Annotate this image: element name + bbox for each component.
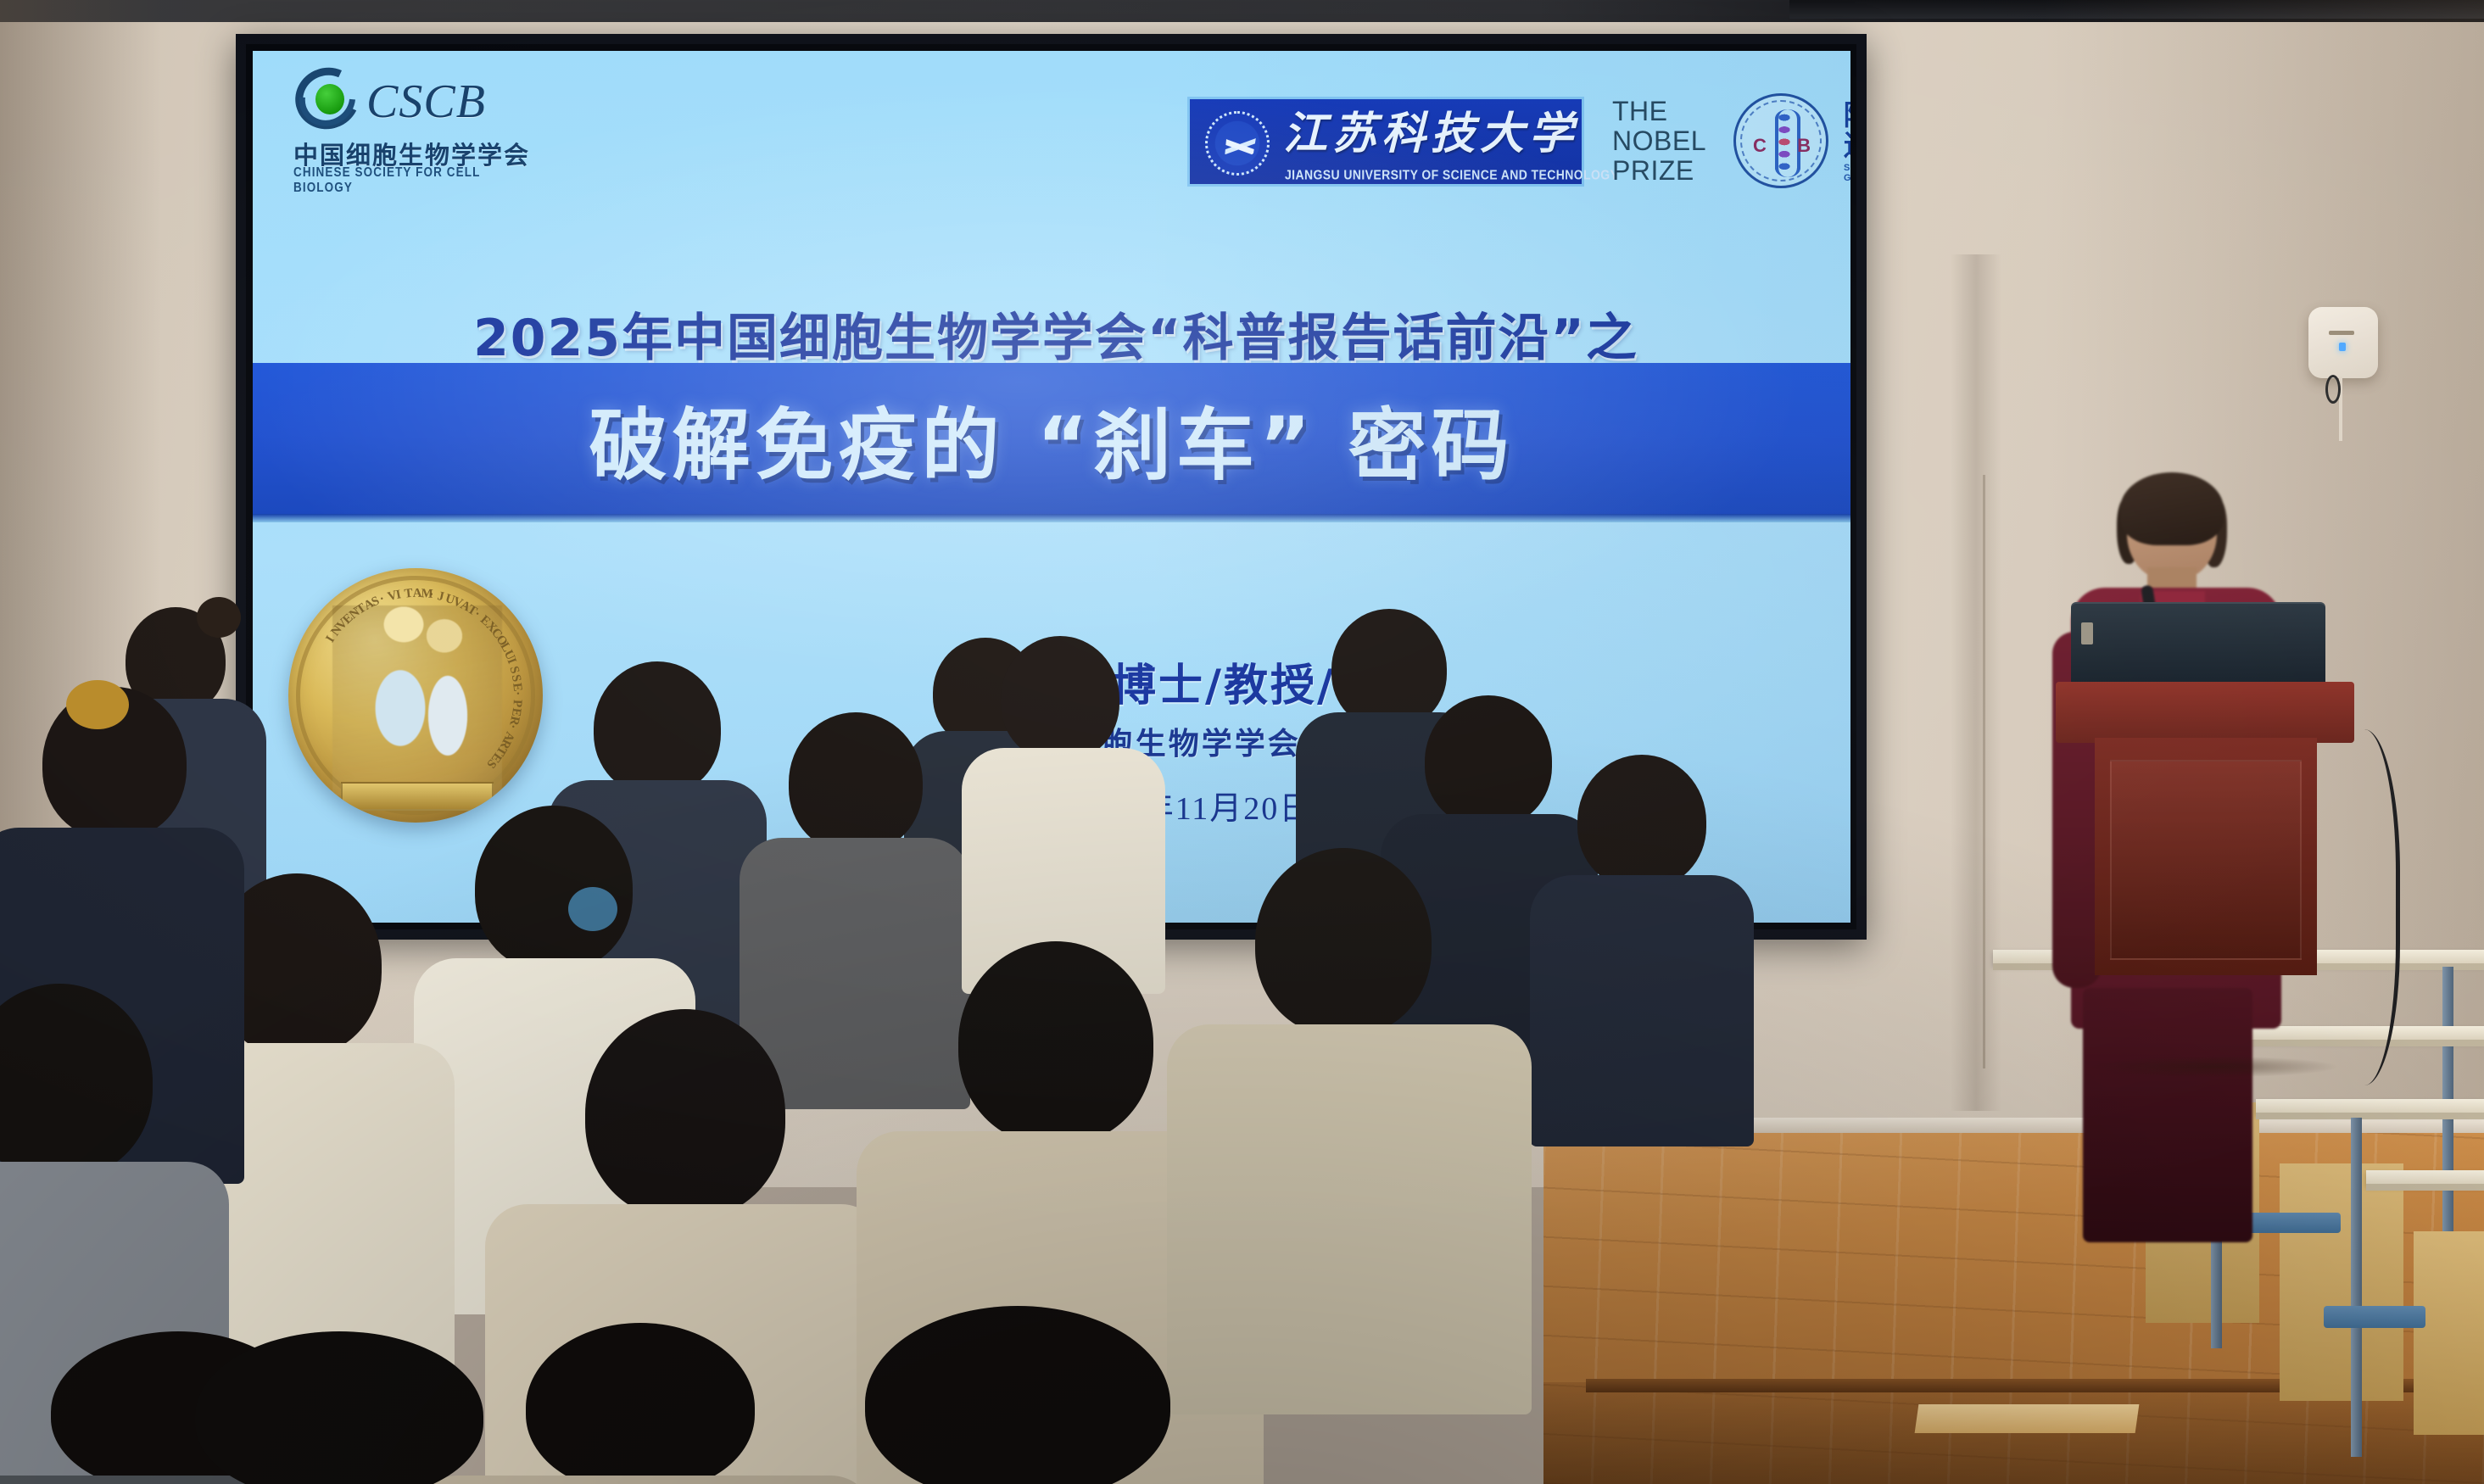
- shaanxi-english-name: SHAANXI SOCIETY OF GENETICS: [1844, 163, 1850, 183]
- head: [594, 661, 721, 795]
- shaanxi-line-2: 遗传学会: [1844, 131, 1850, 161]
- torso: [1530, 875, 1754, 1146]
- head: [789, 712, 923, 853]
- csb-letter-b: B: [1797, 135, 1811, 157]
- shaanxi-line-1: 陕西省: [1844, 100, 1850, 131]
- podium: [2056, 670, 2354, 1068]
- laptop[interactable]: [2071, 602, 2325, 683]
- table-modesty-panel: [2414, 1231, 2484, 1435]
- access-point-slot: [2329, 331, 2354, 335]
- head: [526, 1323, 755, 1484]
- podium-cable: [2341, 729, 2400, 1085]
- slide-main-title: 破解免疫的 “刹车” 密码: [589, 382, 1515, 495]
- head: [475, 806, 633, 972]
- head: [1331, 609, 1447, 729]
- head: [1001, 636, 1119, 762]
- table-leg: [2351, 1118, 2362, 1457]
- podium-shadow: [2035, 1052, 2392, 1082]
- head: [1255, 848, 1432, 1036]
- just-english-name: JIANGSU UNIVERSITY OF SCIENCE AND TECHNO…: [1285, 167, 1578, 182]
- nobel-prize-logo: THE NOBEL PRIZE: [1612, 97, 1722, 188]
- just-seal-icon: [1205, 111, 1270, 176]
- head: [958, 941, 1153, 1145]
- torso-light-jacket: [1167, 1024, 1532, 1414]
- nobel-line-1: THE: [1612, 97, 1722, 126]
- nobel-line-2: NOBEL: [1612, 126, 1722, 156]
- cscb-nucleus-icon: [315, 84, 344, 114]
- chair: [2324, 1306, 2425, 1328]
- podium-body: [2095, 738, 2317, 975]
- head: [585, 1009, 785, 1219]
- title-band-underline: [253, 514, 1850, 522]
- torso-light-jacket: [416, 1476, 874, 1484]
- head: [1577, 755, 1706, 889]
- hair-clip: [568, 887, 617, 931]
- just-logo: 江苏科技大学 JIANGSU UNIVERSITY OF SCIENCE AND…: [1187, 97, 1584, 187]
- cscb-acronym: CSCB: [366, 75, 486, 129]
- lecture-hall-scene: CSCB 中国细胞生物学学会 CHINESE SOCIETY FOR CELL …: [0, 0, 2484, 1484]
- table-frontmost: [2366, 1170, 2484, 1187]
- hair-scrunchie: [66, 680, 129, 729]
- dna-helix-icon: [1775, 109, 1794, 177]
- wifi-access-point: [2308, 307, 2378, 378]
- laptop-port-icon: [2081, 622, 2093, 644]
- hair-bun: [197, 597, 241, 638]
- podium-top: [2056, 682, 2354, 743]
- slide-logo-row: CSCB 中国细胞生物学学会 CHINESE SOCIETY FOR CELL …: [253, 56, 1850, 183]
- shaanxi-genetics-logo: 陕西省 遗传学会 SHAANXI SOCIETY OF GENETICS: [1844, 100, 1850, 185]
- presenter-hair: [2120, 472, 2224, 545]
- head: [1425, 695, 1552, 828]
- cscb-english-name: CHINESE SOCIETY FOR CELL BIOLOGY: [293, 165, 543, 194]
- podium-front-panel: [2110, 760, 2302, 960]
- cscb-cell-icon: [295, 63, 368, 134]
- cable-loop: [2325, 375, 2341, 404]
- csb-logo: C B: [1733, 93, 1828, 188]
- nobel-line-3: PRIZE: [1612, 156, 1722, 186]
- just-chinese-name: 江苏科技大学: [1283, 106, 1582, 164]
- csb-letter-c: C: [1753, 135, 1767, 157]
- slide-subtitle: 2025年中国细胞生物学学会“科普报告话前沿”之: [253, 297, 1850, 371]
- access-point-led: [2339, 343, 2346, 351]
- cscb-logo: CSCB 中国细胞生物学学会 CHINESE SOCIETY FOR CELL …: [288, 63, 543, 175]
- slide-title-band: 破解免疫的 “刹车” 密码: [253, 363, 1850, 514]
- table-edge: [2366, 1184, 2484, 1191]
